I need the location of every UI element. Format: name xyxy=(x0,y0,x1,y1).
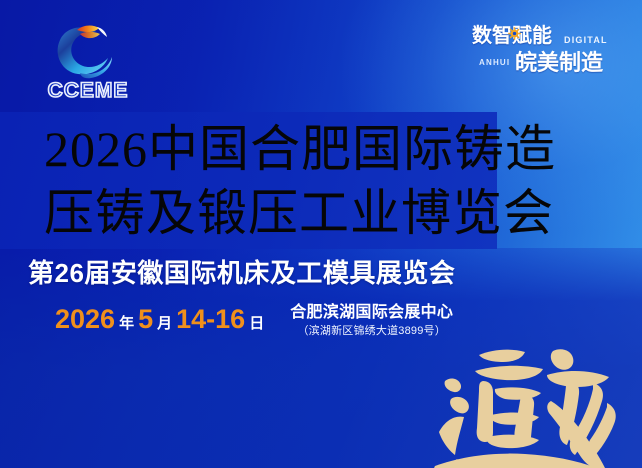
event-info-bar: 2026 年 5 月 14-16 日 合肥滨湖国际会展中心 （滨湖新区锦绣大道3… xyxy=(55,303,453,340)
event-venue: 合肥滨湖国际会展中心 （滨湖新区锦绣大道3899号） xyxy=(290,303,453,340)
slogan-line2-en: ANHUI xyxy=(479,59,510,67)
date-day-unit: 日 xyxy=(245,316,268,331)
main-title-line-1: 2026中国合肥国际铸造 xyxy=(44,117,604,181)
cceme-logo: CCEME xyxy=(36,22,140,104)
date-year-unit: 年 xyxy=(115,316,138,331)
date-days: 14-16 xyxy=(176,306,245,333)
poster-canvas: CCEME 数智赋能 xyxy=(0,0,642,468)
slogan-line2-cn: 皖美制造 xyxy=(515,52,603,74)
date-month-unit: 月 xyxy=(153,316,176,331)
gear-icon xyxy=(508,27,521,40)
slogan-line1-en: DIGITAL xyxy=(564,36,608,45)
event-date: 2026 年 5 月 14-16 日 xyxy=(55,303,268,333)
main-title-line-2: 压铸及锻压工业博览会 xyxy=(44,181,604,245)
main-title: 2026中国合肥国际铸造 压铸及锻压工业博览会 xyxy=(44,117,604,245)
cceme-wordmark: CCEME xyxy=(36,80,140,101)
venue-address: （滨湖新区锦绣大道3899号） xyxy=(290,323,453,340)
date-year: 2026 xyxy=(55,306,115,333)
subtitle: 第26届安徽国际机床及工模具展览会 xyxy=(28,253,455,290)
cceme-wordmark-text: CCEME xyxy=(48,79,129,102)
date-month: 5 xyxy=(138,306,153,333)
cceme-logo-mark-icon xyxy=(50,22,124,80)
slogan-block: 数智赋能 DIG xyxy=(467,26,632,82)
venue-name: 合肥滨湖国际会展中心 xyxy=(290,303,453,323)
